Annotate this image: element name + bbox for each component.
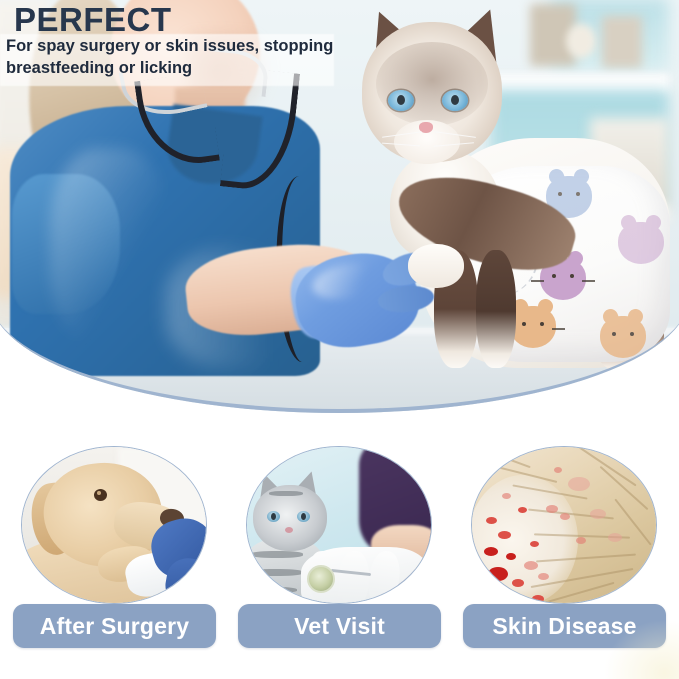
skin-lesion (608, 533, 622, 542)
card-thumbnail-after-surgery (21, 446, 207, 604)
suit-print-cat-tan-2 (510, 306, 556, 348)
kitten-scene (247, 447, 431, 603)
kitten-nose (285, 527, 293, 533)
use-case-card-skin-disease[interactable]: Skin Disease (457, 438, 672, 679)
product-feature-image: PERFECT For spay surgery or skin issues,… (0, 0, 679, 679)
skin-lesion (576, 537, 586, 544)
stethoscope-chestpiece (307, 565, 335, 593)
skin-lesion (518, 507, 527, 513)
card-label-text: Skin Disease (492, 613, 636, 640)
shelf-jar (566, 24, 596, 58)
use-case-card-after-surgery[interactable]: After Surgery (7, 438, 222, 679)
skin-lesion (590, 509, 606, 519)
skin-lesion (554, 467, 562, 473)
kitten-eye-right (297, 511, 310, 522)
page-title: PERFECT (14, 2, 172, 38)
kitten-stripe-1 (251, 551, 303, 558)
skin-lesion (502, 493, 511, 499)
card-label-skin-disease[interactable]: Skin Disease (463, 604, 666, 648)
skin-lesion (568, 477, 590, 491)
page-subtitle: For spay surgery or skin issues, stoppin… (6, 36, 336, 80)
skin-lesion (484, 547, 498, 556)
card-thumbnail-vet-visit (246, 446, 432, 604)
skin-lesion (506, 553, 516, 560)
cat-front-leg-2 (476, 250, 516, 368)
card-label-text: Vet Visit (294, 613, 385, 640)
shelf-box-2 (602, 16, 642, 68)
dog-eye (94, 489, 107, 501)
skin-lesion (530, 541, 539, 547)
cat-eye-left (388, 90, 414, 111)
kitten-eye-left (267, 511, 280, 522)
suit-print-cat-tan-3 (600, 316, 646, 358)
cat-face-mask-marking (376, 42, 488, 126)
cat-eye-right (442, 90, 468, 111)
hero-section: PERFECT For spay surgery or skin issues,… (0, 0, 679, 420)
kitten-stripe-2 (247, 569, 303, 576)
skin-lesion (560, 513, 570, 520)
glove-finger-b (338, 550, 370, 604)
use-case-cards: After Surgery (0, 438, 679, 679)
card-thumbnail-skin-disease (471, 446, 657, 604)
skin-lesion (532, 595, 544, 603)
card-label-after-surgery[interactable]: After Surgery (13, 604, 216, 648)
skin-lesion (488, 567, 508, 581)
cat-paw-front (408, 244, 464, 288)
kitten-stripe-3 (249, 587, 297, 593)
skin-lesion (546, 505, 558, 513)
skin-lesion (538, 573, 549, 580)
dog-scene (22, 447, 206, 603)
use-case-card-vet-visit[interactable]: Vet Visit (232, 438, 447, 679)
card-label-vet-visit[interactable]: Vet Visit (238, 604, 441, 648)
skin-scene (472, 447, 656, 603)
skin-lesion (524, 561, 538, 570)
skin-lesion (486, 517, 497, 524)
skin-lesion (512, 579, 524, 587)
card-label-text: After Surgery (40, 613, 190, 640)
scrubs-highlight-1 (50, 148, 170, 348)
skin-lesion (498, 531, 511, 539)
suit-print-cat-purple-2 (618, 222, 664, 264)
kitten-forehead-stripe (269, 491, 303, 496)
